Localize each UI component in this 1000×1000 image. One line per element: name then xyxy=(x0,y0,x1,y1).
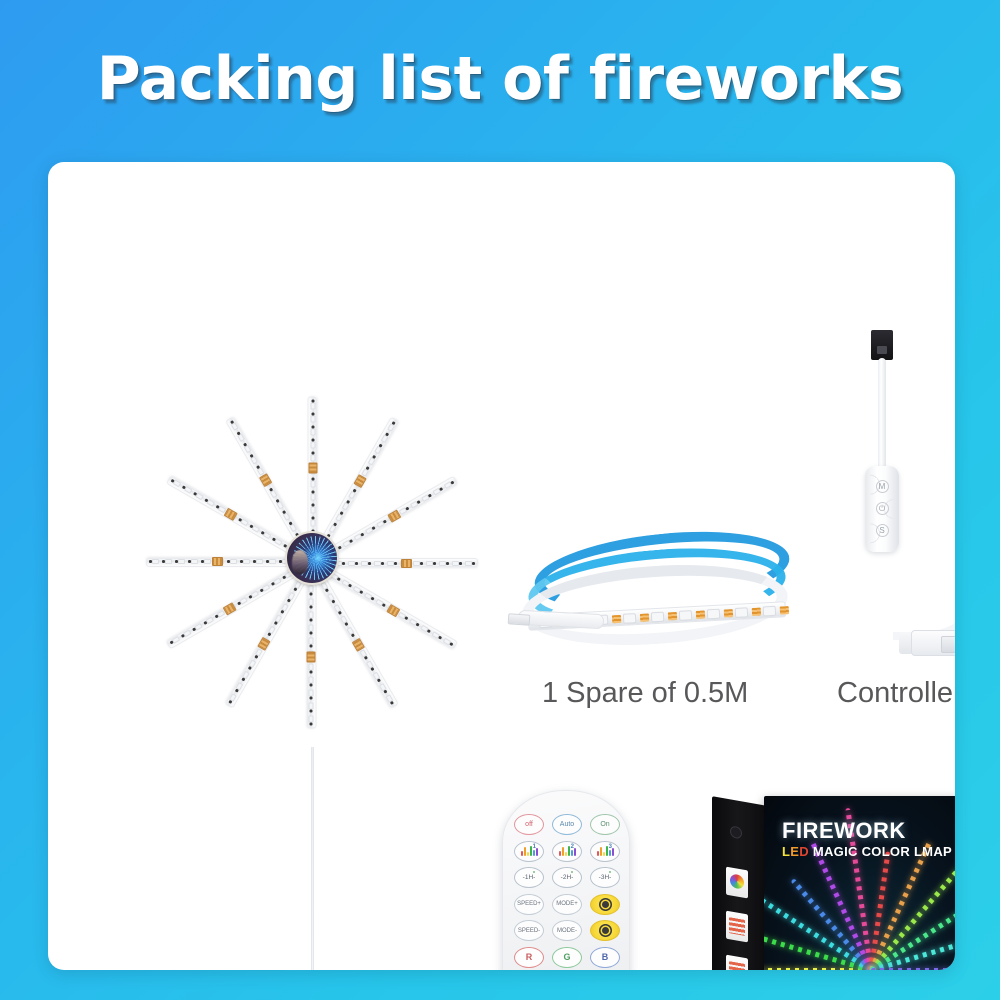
led-dot xyxy=(310,671,313,674)
controller-mode-button[interactable]: M xyxy=(876,480,889,493)
controller-body: M ⏻ S xyxy=(865,466,899,552)
led-dot xyxy=(337,577,340,580)
led-dot xyxy=(428,494,431,497)
led-dot xyxy=(228,561,231,564)
led-dot xyxy=(394,562,397,565)
led-chip xyxy=(311,455,316,462)
packing-list-card: M ⏻ S offAutoOn123-1H--2H--3H-SPEED+MODE… xyxy=(48,162,955,970)
strip-resistor xyxy=(752,608,761,616)
led-chip xyxy=(311,520,316,527)
remote-timer-1H[interactable]: -1H- xyxy=(514,867,544,888)
led-dot xyxy=(310,645,313,648)
controller-power-button[interactable]: ⏻ xyxy=(876,502,889,515)
led-dot xyxy=(342,562,345,565)
remote-music-mode-1[interactable]: 1 xyxy=(514,841,544,862)
led-chip xyxy=(165,559,172,564)
remote-key-row: SPEED-MODE- xyxy=(514,920,620,941)
box-spine xyxy=(712,796,768,970)
led-dot xyxy=(312,452,315,455)
led-chip xyxy=(269,559,276,564)
led-dot xyxy=(312,478,315,481)
led-chip xyxy=(465,561,472,566)
controller-upper-cable xyxy=(878,358,886,470)
strip-resistor xyxy=(668,612,677,620)
product-box-image: FIREWORK LED MAGIC COLOR LMAP xyxy=(712,796,955,970)
remote-key-b[interactable]: B xyxy=(590,947,620,968)
strip-copper-connector xyxy=(224,508,238,521)
led-dot xyxy=(150,561,153,564)
led-dot xyxy=(249,595,252,598)
led-dot xyxy=(238,602,241,605)
led-dot xyxy=(438,636,441,639)
led-dot xyxy=(372,526,375,529)
caption-controller: Controller xyxy=(837,677,955,710)
led-chip xyxy=(413,561,420,566)
led-strip-body xyxy=(324,476,458,559)
strip-resistor xyxy=(612,615,621,623)
led-chip xyxy=(191,559,198,564)
timer-indicator xyxy=(571,871,573,873)
remote-key-row: 123 xyxy=(514,841,620,862)
led-dot xyxy=(355,562,358,565)
remote-timer-2H[interactable]: -2H- xyxy=(552,867,582,888)
box-subtitle: LED MAGIC COLOR LMAP xyxy=(782,844,952,859)
led-dot xyxy=(439,487,442,490)
box-badge-label-1 xyxy=(726,911,748,943)
remote-key-speed-[interactable]: SPEED+ xyxy=(514,894,544,915)
controller-image: M ⏻ S xyxy=(793,330,955,680)
led-dot xyxy=(312,413,315,416)
box-title: FIREWORK xyxy=(782,818,906,844)
strip-led-chip xyxy=(707,609,721,620)
led-chip xyxy=(243,559,250,564)
led-dot xyxy=(312,439,315,442)
led-dot xyxy=(472,562,475,565)
box-subtitle-e: E xyxy=(790,844,799,859)
led-dot xyxy=(359,590,362,593)
led-chip xyxy=(452,561,459,566)
led-dot xyxy=(349,539,352,542)
strip-copper-connector xyxy=(307,652,316,663)
led-dot xyxy=(310,697,313,700)
fireworks-lamp-image xyxy=(126,358,498,758)
strip-copper-connector xyxy=(259,473,272,487)
led-chip xyxy=(311,429,316,436)
remote-control-image[interactable]: offAutoOn123-1H--2H--3H-SPEED+MODE+SPEED… xyxy=(502,790,630,970)
led-chip xyxy=(309,677,314,684)
led-dot xyxy=(427,629,430,632)
led-dot xyxy=(249,666,252,669)
lamp-led-ray xyxy=(308,563,317,729)
remote-key-speed-[interactable]: SPEED- xyxy=(514,920,544,941)
led-dot xyxy=(416,623,419,626)
led-strip-body xyxy=(225,574,308,708)
led-dot xyxy=(215,615,218,618)
led-dot xyxy=(332,599,335,602)
jst-connector-icon xyxy=(871,330,893,360)
music-mode-number: 1 xyxy=(533,844,536,850)
led-chip xyxy=(204,559,211,564)
led-dot xyxy=(377,678,380,681)
strip-copper-connector xyxy=(309,463,318,474)
led-chip xyxy=(426,561,433,566)
led-chip xyxy=(309,612,314,619)
led-dot xyxy=(371,597,374,600)
strip-led-chip xyxy=(763,606,777,617)
strip-pins xyxy=(508,613,531,626)
led-dot xyxy=(242,678,245,681)
led-dot xyxy=(310,606,313,609)
led-dot xyxy=(338,546,341,549)
led-chip xyxy=(309,586,314,593)
badge-text-icon xyxy=(729,917,745,936)
led-dot xyxy=(450,481,453,484)
remote-key-g[interactable]: G xyxy=(552,947,582,968)
led-chip xyxy=(387,561,394,566)
remote-key-label: -2H- xyxy=(561,874,574,881)
remote-brightness-down[interactable] xyxy=(590,920,620,941)
led-dot xyxy=(176,561,179,564)
led-chip xyxy=(311,442,316,449)
led-dot xyxy=(283,576,286,579)
controller-speed-button[interactable]: S xyxy=(876,524,889,537)
led-chip xyxy=(311,494,316,501)
led-dot xyxy=(236,689,239,692)
led-dot xyxy=(288,599,291,602)
lamp-cable-tail xyxy=(311,747,314,970)
led-dot xyxy=(310,632,313,635)
spare-led-strip-image xyxy=(514,530,814,660)
led-dot xyxy=(163,561,166,564)
led-dot xyxy=(254,561,257,564)
led-dot xyxy=(405,616,408,619)
box-front-face: FIREWORK LED MAGIC COLOR LMAP xyxy=(764,796,955,970)
led-dot xyxy=(267,561,270,564)
strip-copper-connector xyxy=(212,557,223,566)
led-dot xyxy=(310,619,313,622)
remote-timer-3H[interactable]: -3H- xyxy=(590,867,620,888)
led-chip xyxy=(309,625,314,632)
led-dot xyxy=(383,520,386,523)
color-wheel-icon xyxy=(730,873,744,889)
remote-brightness-up[interactable] xyxy=(590,894,620,915)
led-dot xyxy=(417,500,420,503)
led-dot xyxy=(193,628,196,631)
led-dot xyxy=(260,589,263,592)
led-dot xyxy=(170,641,173,644)
led-dot xyxy=(310,710,313,713)
remote-key-mode-[interactable]: MODE- xyxy=(552,920,582,941)
led-dot xyxy=(275,621,278,624)
led-strip-body xyxy=(328,558,478,567)
controller-lower-cable xyxy=(893,544,955,640)
led-dot xyxy=(433,562,436,565)
led-dot xyxy=(420,562,423,565)
remote-key-label: -3H- xyxy=(599,874,612,881)
led-dot xyxy=(338,611,341,614)
remote-key-r[interactable]: R xyxy=(514,947,544,968)
music-mode-number: 2 xyxy=(571,844,574,850)
led-dot xyxy=(312,400,315,403)
led-dot xyxy=(325,588,328,591)
led-dot xyxy=(459,562,462,565)
led-dot xyxy=(280,561,283,564)
led-chip xyxy=(178,559,185,564)
led-dot xyxy=(384,690,387,693)
remote-music-mode-2[interactable]: 2 xyxy=(552,841,582,862)
remote-music-mode-3[interactable]: 3 xyxy=(590,841,620,862)
strip-led-chip xyxy=(735,607,749,618)
music-mode-number: 3 xyxy=(609,844,612,850)
box-spine-hole-icon xyxy=(730,825,742,839)
remote-key-row: offAutoOn xyxy=(514,814,620,835)
led-chip xyxy=(309,690,314,697)
led-dot xyxy=(229,700,232,703)
box-subtitle-d: D xyxy=(799,844,809,859)
led-dot xyxy=(371,667,374,670)
led-dot xyxy=(204,621,207,624)
led-dot xyxy=(381,562,384,565)
box-subtitle-rest: MAGIC COLOR LMAP xyxy=(809,844,952,859)
led-chip xyxy=(309,638,314,645)
led-dot xyxy=(310,723,313,726)
led-dot xyxy=(294,587,297,590)
led-dot xyxy=(348,584,351,587)
caption-spare-strip: 1 Spare of 0.5M xyxy=(542,677,748,710)
led-chip xyxy=(311,416,316,423)
timer-indicator xyxy=(609,871,611,873)
led-strip-body xyxy=(146,558,296,567)
remote-key-label: -1H- xyxy=(523,874,536,881)
remote-keypad: offAutoOn123-1H--2H--3H-SPEED+MODE+SPEED… xyxy=(514,814,620,970)
box-subtitle-l: L xyxy=(782,844,790,859)
led-dot xyxy=(272,582,275,585)
led-dot xyxy=(360,533,363,536)
led-chip xyxy=(256,559,263,564)
remote-key-off[interactable]: off xyxy=(514,814,544,835)
strip-copper-connector xyxy=(401,559,412,568)
led-dot xyxy=(382,603,385,606)
led-chip xyxy=(309,599,314,606)
box-badge-label-2 xyxy=(726,955,748,970)
page-title: Packing list of fireworks xyxy=(0,44,1000,114)
led-chip xyxy=(309,716,314,723)
badge-text-icon xyxy=(729,961,745,970)
led-dot xyxy=(364,656,367,659)
led-chip xyxy=(309,664,314,671)
led-chip xyxy=(439,561,446,566)
remote-key-row: -1H--2H--3H- xyxy=(514,867,620,888)
strip-resistor xyxy=(724,609,733,617)
led-chip xyxy=(361,561,368,566)
led-chip xyxy=(348,561,355,566)
led-chip xyxy=(309,703,314,710)
timer-indicator xyxy=(533,871,535,873)
led-dot xyxy=(345,622,348,625)
led-strip-body xyxy=(308,579,317,729)
led-dot xyxy=(312,426,315,429)
led-dot xyxy=(446,562,449,565)
led-dot xyxy=(189,561,192,564)
remote-key-row: RGB xyxy=(514,947,620,968)
strip-resistor xyxy=(640,613,649,621)
usb-plug-icon xyxy=(911,630,955,656)
strip-led-chip xyxy=(651,612,665,623)
led-dot xyxy=(405,507,408,510)
led-dot xyxy=(312,517,315,520)
led-dot xyxy=(368,562,371,565)
led-chip xyxy=(311,481,316,488)
led-chip xyxy=(311,507,316,514)
strip-resistor xyxy=(696,610,705,618)
led-dot xyxy=(255,655,258,658)
led-chip xyxy=(374,561,381,566)
led-dot xyxy=(241,561,244,564)
led-dot xyxy=(312,491,315,494)
strip-led-chip xyxy=(679,610,693,621)
led-strip-body xyxy=(308,397,317,547)
box-badge-color-wheel xyxy=(726,867,748,899)
led-dot xyxy=(281,610,284,613)
led-chip xyxy=(311,403,316,410)
led-chip xyxy=(152,559,159,564)
led-dot xyxy=(182,634,185,637)
led-dot xyxy=(312,504,315,507)
led-chip xyxy=(230,559,237,564)
remote-key-auto[interactable]: Auto xyxy=(552,814,582,835)
remote-key-mode-[interactable]: MODE+ xyxy=(552,894,582,915)
led-dot xyxy=(310,593,313,596)
led-dot xyxy=(351,633,354,636)
box-firework-ray xyxy=(871,968,955,970)
remote-key-on[interactable]: On xyxy=(590,814,620,835)
led-dot xyxy=(450,642,453,645)
led-dot xyxy=(268,633,271,636)
strip-led-chip xyxy=(623,613,637,624)
remote-key-row: SPEED+MODE+ xyxy=(514,894,620,915)
led-dot xyxy=(390,701,393,704)
lamp-center-hub xyxy=(287,533,337,583)
led-dot xyxy=(310,684,313,687)
strip-resistor xyxy=(780,606,789,614)
led-dot xyxy=(202,561,205,564)
